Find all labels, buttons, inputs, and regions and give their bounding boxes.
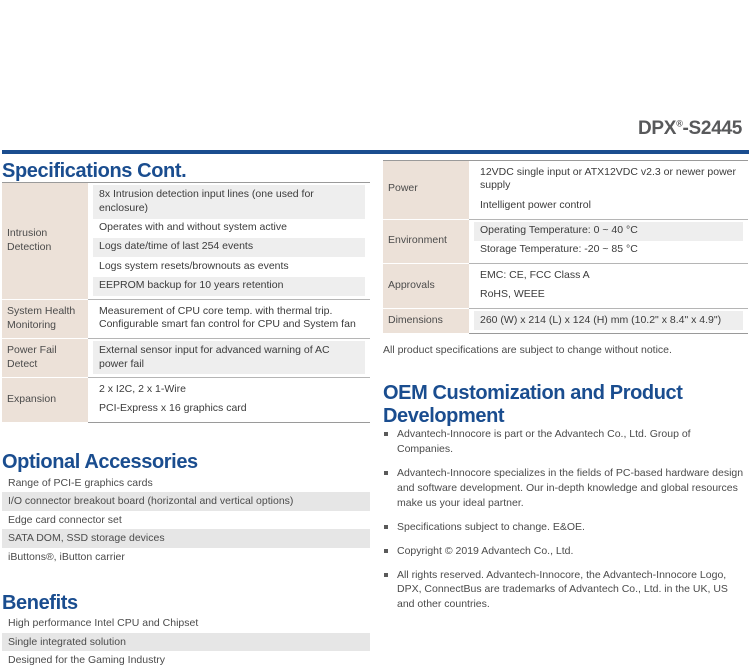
benefit-item: Designed for the Gaming Industry xyxy=(2,651,370,670)
spec-value: EEPROM backup for 10 years retention xyxy=(93,277,365,296)
table-row: Power Fail Detect External sensor input … xyxy=(2,339,370,378)
spec-values-dimensions: 260 (W) x 214 (L) x 124 (H) mm (10.2" x … xyxy=(469,309,748,334)
list-item: High performance Intel CPU and Chipset xyxy=(2,614,370,633)
oem-bullet-text: Advantech-Innocore is part or the Advant… xyxy=(397,428,691,455)
list-item: iButtons®, iButton carrier xyxy=(2,548,370,567)
page-header: DPX®-S2445 xyxy=(0,0,750,150)
spec-value: 12VDC single input or ATX12VDC v2.3 or n… xyxy=(474,163,743,196)
optional-accessories-section: Optional Accessories Range of PCI-E grap… xyxy=(2,451,370,566)
spec-value: Logs date/time of last 254 events xyxy=(93,238,365,257)
oem-customization-section: OEM Customization and Product Developmen… xyxy=(383,382,748,612)
left-column: Specifications Cont. Intrusion Detection… xyxy=(2,160,370,670)
accessory-item: Edge card connector set xyxy=(2,511,370,530)
spec-value: Intelligent power control xyxy=(474,196,743,215)
oem-bullet-text: All rights reserved. Advantech-Innocore,… xyxy=(397,569,728,611)
spec-value: 8x Intrusion detection input lines (one … xyxy=(93,185,365,218)
spec-value: Operating Temperature: 0 ~ 40 °C xyxy=(474,222,743,241)
table-row: Dimensions 260 (W) x 214 (L) x 124 (H) m… xyxy=(383,309,748,334)
product-title-main: DPX xyxy=(638,118,676,139)
benefit-item: High performance Intel CPU and Chipset xyxy=(2,614,370,633)
oem-bullet-text: Copyright © 2019 Advantech Co., Ltd. xyxy=(397,545,573,557)
table-row: Expansion 2 x I2C, 2 x 1-Wire PCI-Expres… xyxy=(2,378,370,423)
oem-bullet-text: Advantech-Innocore specializes in the fi… xyxy=(397,467,743,509)
list-item: Designed for the Gaming Industry xyxy=(2,651,370,670)
spec-values-power-fail-detect: External sensor input for advanced warni… xyxy=(88,339,370,378)
spec-values-approvals: EMC: CE, FCC Class A RoHS, WEEE xyxy=(469,264,748,309)
spec-values-power: 12VDC single input or ATX12VDC v2.3 or n… xyxy=(469,161,748,220)
accessory-item: iButtons®, iButton carrier xyxy=(2,548,370,567)
accessory-item: Range of PCI-E graphics cards xyxy=(2,474,370,493)
product-title: DPX®-S2445 xyxy=(638,118,742,140)
specifications-table-right: Power 12VDC single input or ATX12VDC v2.… xyxy=(383,160,748,334)
accessory-item: I/O connector breakout board (horizontal… xyxy=(2,492,370,511)
header-divider-rule xyxy=(2,150,749,154)
spec-value: PCI-Express x 16 graphics card xyxy=(93,400,365,419)
spec-value: EMC: CE, FCC Class A xyxy=(474,266,743,285)
oem-bullet-list: Advantech-Innocore is part or the Advant… xyxy=(383,427,748,612)
benefits-heading: Benefits xyxy=(2,592,370,614)
spec-value: Measurement of CPU core temp. with therm… xyxy=(93,302,365,335)
spec-value: 2 x I2C, 2 x 1-Wire xyxy=(93,380,365,399)
list-item: Advantech-Innocore specializes in the fi… xyxy=(383,466,748,511)
spec-label-environment: Environment xyxy=(383,219,469,264)
spec-value: External sensor input for advanced warni… xyxy=(93,341,365,374)
table-row: Power 12VDC single input or ATX12VDC v2.… xyxy=(383,161,748,220)
spec-values-system-health-monitoring: Measurement of CPU core temp. with therm… xyxy=(88,300,370,339)
list-item: I/O connector breakout board (horizontal… xyxy=(2,492,370,511)
spec-values-environment: Operating Temperature: 0 ~ 40 °C Storage… xyxy=(469,219,748,264)
list-item: Specifications subject to change. E&OE. xyxy=(383,520,748,535)
specifications-note: All product specifications are subject t… xyxy=(383,344,748,356)
list-item: Edge card connector set xyxy=(2,511,370,530)
accessory-item: SATA DOM, SSD storage devices xyxy=(2,529,370,548)
benefits-table: High performance Intel CPU and Chipset S… xyxy=(2,614,370,670)
spec-label-power: Power xyxy=(383,161,469,220)
table-row: Environment Operating Temperature: 0 ~ 4… xyxy=(383,219,748,264)
spec-values-expansion: 2 x I2C, 2 x 1-Wire PCI-Express x 16 gra… xyxy=(88,378,370,423)
specifications-table-left: Intrusion Detection 8x Intrusion detecti… xyxy=(2,182,370,423)
oem-heading-line1: OEM Customization and Product xyxy=(383,382,683,404)
table-row: Intrusion Detection 8x Intrusion detecti… xyxy=(2,183,370,300)
spec-value: 260 (W) x 214 (L) x 124 (H) mm (10.2" x … xyxy=(474,311,743,330)
oem-heading: OEM Customization and Product Developmen… xyxy=(383,382,748,427)
page-title: Specifications Cont. xyxy=(2,160,370,182)
right-column: Power 12VDC single input or ATX12VDC v2.… xyxy=(383,160,748,621)
list-item: Copyright © 2019 Advantech Co., Ltd. xyxy=(383,544,748,559)
benefits-section: Benefits High performance Intel CPU and … xyxy=(2,592,370,670)
spec-value: Storage Temperature: -20 ~ 85 °C xyxy=(474,241,743,260)
spec-label-power-fail-detect: Power Fail Detect xyxy=(2,339,88,378)
spec-label-intrusion-detection: Intrusion Detection xyxy=(2,183,88,300)
table-row: System Health Monitoring Measurement of … xyxy=(2,300,370,339)
oem-heading-line2: Development xyxy=(383,405,504,427)
spec-value: Operates with and without system active xyxy=(93,219,365,238)
table-row: Approvals EMC: CE, FCC Class A RoHS, WEE… xyxy=(383,264,748,309)
benefit-item: Single integrated solution xyxy=(2,633,370,652)
spec-values-intrusion-detection: 8x Intrusion detection input lines (one … xyxy=(88,183,370,300)
spec-value: RoHS, WEEE xyxy=(474,286,743,305)
optional-accessories-table: Range of PCI-E graphics cards I/O connec… xyxy=(2,474,370,567)
list-item: SATA DOM, SSD storage devices xyxy=(2,529,370,548)
product-title-model: -S2445 xyxy=(683,118,742,139)
spec-label-dimensions: Dimensions xyxy=(383,309,469,334)
spec-label-approvals: Approvals xyxy=(383,264,469,309)
spec-value: Logs system resets/brownouts as events xyxy=(93,257,365,276)
list-item: All rights reserved. Advantech-Innocore,… xyxy=(383,568,748,613)
spec-label-expansion: Expansion xyxy=(2,378,88,423)
oem-bullet-text: Specifications subject to change. E&OE. xyxy=(397,521,585,533)
list-item: Single integrated solution xyxy=(2,633,370,652)
list-item: Range of PCI-E graphics cards xyxy=(2,474,370,493)
list-item: Advantech-Innocore is part or the Advant… xyxy=(383,427,748,457)
spec-label-system-health-monitoring: System Health Monitoring xyxy=(2,300,88,339)
optional-accessories-heading: Optional Accessories xyxy=(2,451,370,473)
